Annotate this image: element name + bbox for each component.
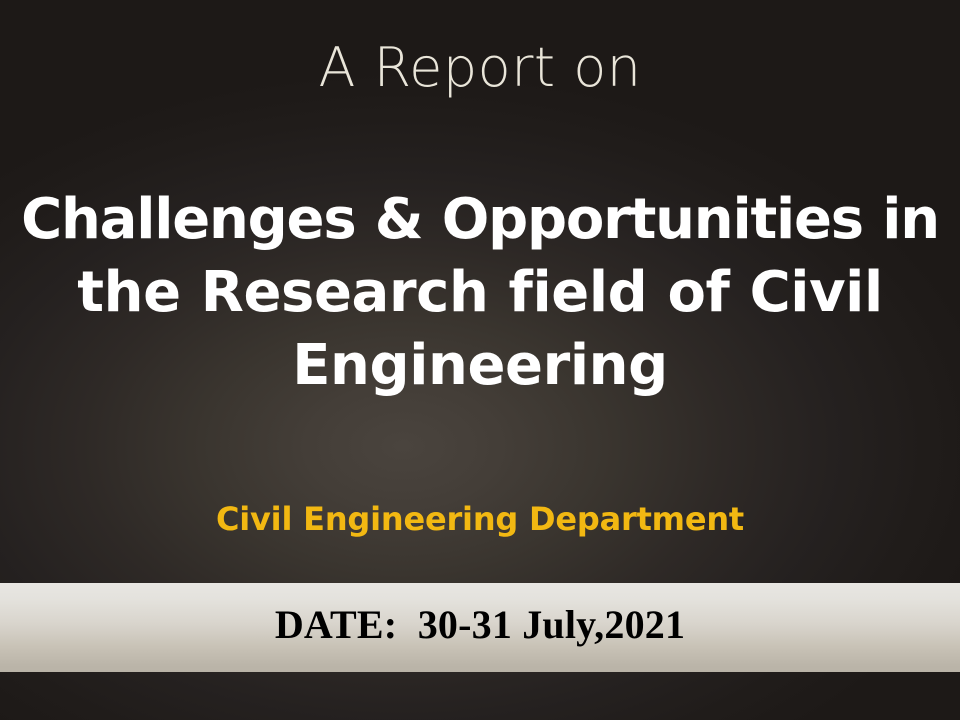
title-line-3: Engineering [12,329,948,402]
page-title: Challenges & Opportunities in the Resear… [12,183,948,402]
title-slide: A Report on Challenges & Opportunities i… [0,0,960,720]
date-text: DATE: 30-31 July,2021 [275,602,685,648]
title-line-2: the Research field of Civil [12,256,948,329]
eyebrow-text: A Report on [0,36,960,100]
title-line-1: Challenges & Opportunities in [12,183,948,256]
date-banner: DATE: 30-31 July,2021 [0,583,960,672]
department-subtitle: Civil Engineering Department [0,498,960,540]
